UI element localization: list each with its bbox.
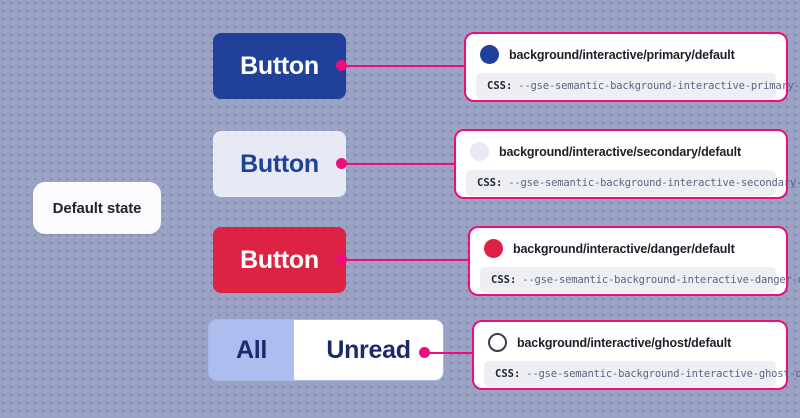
color-swatch-primary-icon bbox=[480, 45, 499, 64]
token-card-danger-title: background/interactive/danger/default bbox=[513, 242, 735, 256]
token-card-secondary-head: background/interactive/secondary/default bbox=[466, 140, 776, 161]
token-card-danger: background/interactive/danger/default CS… bbox=[468, 226, 788, 296]
connector-dot-primary bbox=[336, 60, 347, 71]
connector-dot-danger bbox=[336, 254, 347, 265]
segment-unread-label: Unread bbox=[326, 336, 410, 365]
segment-all[interactable]: All bbox=[209, 320, 294, 380]
connector-dot-ghost bbox=[419, 347, 430, 358]
connector-line-primary bbox=[341, 65, 465, 67]
token-card-primary-title: background/interactive/primary/default bbox=[509, 48, 735, 62]
css-variable-value: --gse-semantic-background-interactive-se… bbox=[508, 177, 800, 189]
connector-dot-secondary bbox=[336, 158, 347, 169]
primary-button-label: Button bbox=[240, 52, 319, 81]
secondary-button[interactable]: Button bbox=[213, 131, 346, 197]
danger-button[interactable]: Button bbox=[213, 227, 346, 293]
token-card-ghost-title: background/interactive/ghost/default bbox=[517, 336, 731, 350]
danger-button-label: Button bbox=[240, 246, 319, 275]
token-card-ghost: background/interactive/ghost/default CSS… bbox=[472, 320, 788, 390]
token-card-danger-head: background/interactive/danger/default bbox=[480, 237, 776, 258]
color-swatch-secondary-icon bbox=[470, 142, 489, 161]
default-state-label: Default state bbox=[33, 182, 161, 234]
color-swatch-ghost-icon bbox=[488, 333, 507, 352]
css-label: CSS: bbox=[477, 177, 502, 189]
segmented-control[interactable]: All Unread bbox=[208, 319, 444, 381]
token-card-primary-head: background/interactive/primary/default bbox=[476, 43, 776, 64]
color-swatch-danger-icon bbox=[484, 239, 503, 258]
connector-line-secondary bbox=[341, 163, 455, 165]
token-card-danger-css: CSS: --gse-semantic-background-interacti… bbox=[480, 267, 776, 293]
token-card-ghost-head: background/interactive/ghost/default bbox=[484, 331, 776, 352]
token-card-secondary-css: CSS: --gse-semantic-background-interacti… bbox=[466, 170, 776, 196]
segment-all-label: All bbox=[236, 336, 267, 365]
token-card-secondary-title: background/interactive/secondary/default bbox=[499, 145, 741, 159]
connector-line-ghost bbox=[425, 352, 473, 354]
css-label: CSS: bbox=[487, 80, 512, 92]
token-card-secondary: background/interactive/secondary/default… bbox=[454, 129, 788, 199]
secondary-button-label: Button bbox=[240, 150, 319, 179]
token-card-primary: background/interactive/primary/default C… bbox=[464, 32, 788, 102]
css-variable-value: --gse-semantic-background-interactive-da… bbox=[522, 274, 800, 286]
css-variable-value: --gse-semantic-background-interactive-gh… bbox=[526, 368, 800, 380]
connector-line-danger bbox=[341, 259, 469, 261]
design-token-canvas: Default state Button Button Button All U… bbox=[0, 0, 800, 418]
css-label: CSS: bbox=[491, 274, 516, 286]
token-card-primary-css: CSS: --gse-semantic-background-interacti… bbox=[476, 73, 776, 99]
default-state-label-text: Default state bbox=[53, 200, 142, 217]
primary-button[interactable]: Button bbox=[213, 33, 346, 99]
css-variable-value: --gse-semantic-background-interactive-pr… bbox=[518, 80, 800, 92]
css-label: CSS: bbox=[495, 368, 520, 380]
token-card-ghost-css: CSS: --gse-semantic-background-interacti… bbox=[484, 361, 776, 387]
